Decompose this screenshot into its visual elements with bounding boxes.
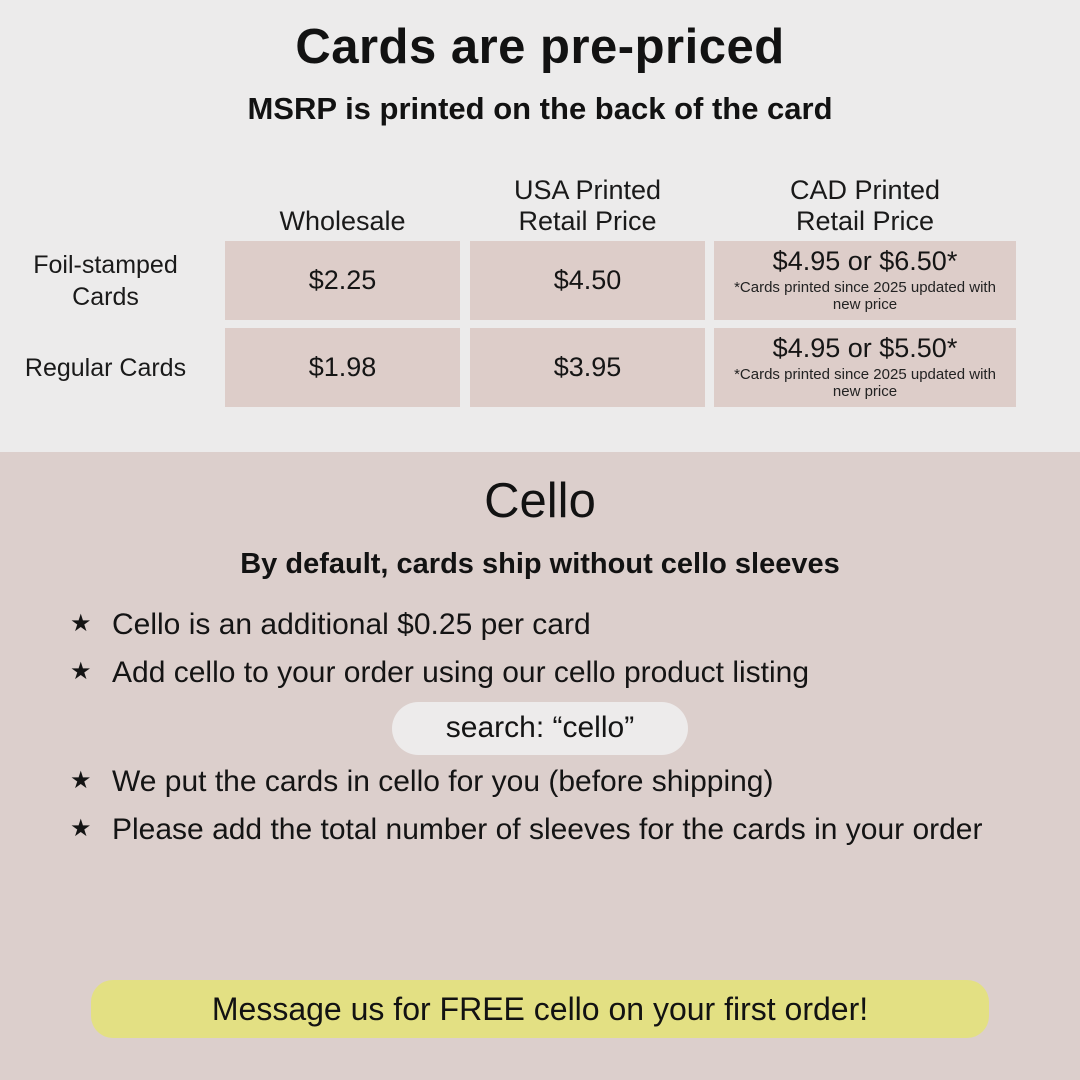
table-corner-cell: [0, 160, 225, 240]
cello-subtitle: By default, cards ship without cello sle…: [0, 526, 1080, 579]
column-gap: [705, 328, 714, 407]
column-header-usa-line1: USA Printed: [514, 175, 661, 205]
row-header-foil-stamped: Foil-stamped Cards: [0, 241, 225, 320]
cell-foil-usa-retail-value: $4.50: [554, 266, 622, 296]
cell-regular-cad-retail-value: $4.95 or $5.50*: [773, 334, 958, 364]
star-icon: ★: [70, 812, 112, 847]
column-gap: [460, 160, 470, 240]
column-gap: [460, 328, 470, 407]
cello-bullet-list-continued: ★ We put the cards in cello for you (bef…: [0, 764, 1080, 848]
cell-regular-cad-retail-note: *Cards printed since 2025 updated with n…: [714, 366, 1016, 401]
cello-section: Cello By default, cards ship without cel…: [0, 452, 1080, 1080]
cello-title: Cello: [0, 452, 1080, 526]
cell-regular-wholesale-value: $1.98: [309, 353, 377, 383]
column-gap: [705, 241, 714, 320]
free-cello-cta-banner[interactable]: Message us for FREE cello on your first …: [91, 980, 989, 1038]
row-header-regular-label: Regular Cards: [25, 352, 186, 384]
star-icon: ★: [70, 764, 112, 799]
column-header-cad-line1: CAD Printed: [790, 175, 940, 205]
list-item-text: Please add the total number of sleeves f…: [112, 812, 1022, 849]
cello-bullet-list: ★ Cello is an additional $0.25 per card …: [0, 579, 1080, 691]
cell-foil-wholesale-value: $2.25: [309, 266, 377, 296]
page-subtitle: MSRP is printed on the back of the card: [0, 72, 1080, 124]
search-hint-wrapper: search: “cello”: [0, 702, 1080, 755]
list-item: ★ Add cello to your order using our cell…: [70, 655, 1022, 692]
cell-regular-usa-retail: $3.95: [470, 328, 705, 407]
row-header-regular: Regular Cards: [0, 328, 225, 407]
search-hint-pill[interactable]: search: “cello”: [392, 702, 688, 755]
column-header-wholesale-label: Wholesale: [279, 206, 405, 237]
cell-foil-usa-retail: $4.50: [470, 241, 705, 320]
cell-regular-usa-retail-value: $3.95: [554, 353, 622, 383]
infographic-page: Cards are pre-priced MSRP is printed on …: [0, 0, 1080, 1080]
column-gap: [705, 160, 714, 240]
cta-wrapper: Message us for FREE cello on your first …: [0, 980, 1080, 1038]
cell-foil-cad-retail-value: $4.95 or $6.50*: [773, 247, 958, 277]
column-gap: [460, 241, 470, 320]
pricing-section: Cards are pre-priced MSRP is printed on …: [0, 0, 1080, 452]
list-item: ★ Cello is an additional $0.25 per card: [70, 607, 1022, 644]
cell-foil-wholesale: $2.25: [225, 241, 460, 320]
star-icon: ★: [70, 607, 112, 642]
page-title: Cards are pre-priced: [0, 0, 1080, 72]
list-item: ★ We put the cards in cello for you (bef…: [70, 764, 1022, 801]
cell-regular-cad-retail: $4.95 or $5.50* *Cards printed since 202…: [714, 328, 1016, 407]
list-item-text: We put the cards in cello for you (befor…: [112, 764, 1022, 801]
table-row: Foil-stamped Cards $2.25 $4.50 $4.95 or …: [0, 241, 1080, 320]
pricing-table: Wholesale USA Printed Retail Price CAD P…: [0, 160, 1080, 407]
column-header-cad-line2: Retail Price: [796, 206, 934, 236]
column-header-usa: USA Printed Retail Price: [470, 160, 705, 240]
table-header-row: Wholesale USA Printed Retail Price CAD P…: [0, 160, 1080, 240]
column-header-usa-line2: Retail Price: [518, 206, 656, 236]
row-header-foil-stamped-line2: Cards: [72, 283, 139, 311]
cell-foil-cad-retail: $4.95 or $6.50* *Cards printed since 202…: [714, 241, 1016, 320]
star-icon: ★: [70, 655, 112, 690]
list-item: ★ Please add the total number of sleeves…: [70, 812, 1022, 849]
cell-foil-cad-retail-note: *Cards printed since 2025 updated with n…: [714, 279, 1016, 314]
cell-regular-wholesale: $1.98: [225, 328, 460, 407]
row-header-foil-stamped-line1: Foil-stamped: [33, 251, 178, 279]
column-header-wholesale: Wholesale: [225, 160, 460, 240]
list-item-text: Cello is an additional $0.25 per card: [112, 607, 1022, 644]
table-row: Regular Cards $1.98 $3.95 $4.95 or $5.50…: [0, 328, 1080, 407]
column-header-cad: CAD Printed Retail Price: [714, 160, 1016, 240]
list-item-text: Add cello to your order using our cello …: [112, 655, 1022, 692]
